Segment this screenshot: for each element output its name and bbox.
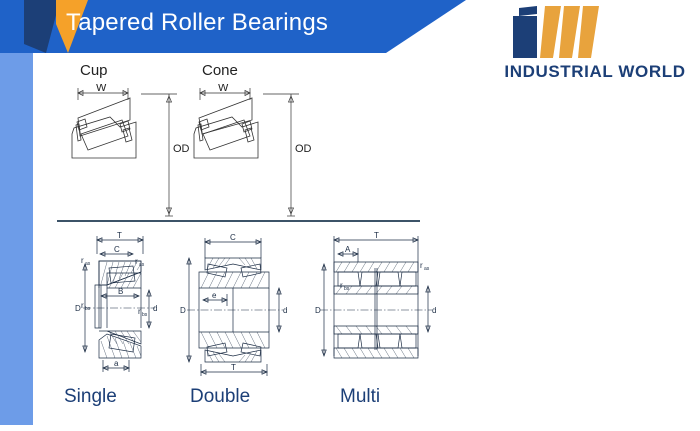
single-radius-sub-c: bs: [85, 306, 91, 312]
single-radius-sub-d: bs: [142, 312, 148, 318]
cone-od-label: OD: [295, 143, 312, 155]
multi-dim-T: T: [374, 231, 379, 240]
single-radius-label-d: r: [138, 307, 141, 316]
cone-width-label: W: [218, 84, 229, 94]
left-accent-strip: [0, 53, 33, 425]
multi-radius-label-a: r: [420, 261, 423, 270]
multi-dim-A: A: [345, 245, 351, 254]
single-dim-a: a: [114, 359, 119, 368]
multi-caption: Multi: [340, 386, 380, 408]
logo-wordmark: INDUSTRIAL WORLD: [495, 62, 695, 82]
single-bearing-diagram: T C r as r as r bs r bs: [55, 228, 175, 383]
single-dim-C: C: [114, 245, 120, 254]
logo-mark-icon: [507, 6, 617, 58]
single-caption: Single: [64, 386, 117, 408]
double-dim-d: d: [283, 306, 287, 315]
top-figure-group: Cup Cone W OD W: [50, 62, 350, 212]
single-radius-sub-b: as: [139, 262, 145, 268]
multi-radius-sub-b: bs: [344, 286, 350, 292]
single-dim-d: d: [153, 304, 157, 313]
cup-width-label: W: [96, 84, 107, 94]
multi-radius-label-b: r: [340, 281, 343, 290]
multi-dim-d: d: [432, 306, 436, 315]
cup-caption: Cup: [80, 62, 108, 79]
multi-bearing-diagram: T A r as r bs: [312, 228, 442, 383]
double-caption: Double: [190, 386, 250, 408]
brand-logo: INDUSTRIAL WORLD: [495, 6, 695, 84]
cone-od-dimension: OD: [257, 90, 317, 230]
multi-radius-sub-a: as: [424, 266, 430, 272]
double-dim-C: C: [230, 233, 236, 242]
double-dim-e: e: [212, 291, 217, 300]
double-dim-T: T: [231, 363, 236, 372]
single-radius-label-c: r: [81, 301, 84, 310]
double-bearing-diagram: C e: [175, 228, 300, 383]
single-dim-B: B: [118, 287, 123, 296]
multi-dim-D: D: [315, 306, 321, 315]
bottom-figure-group: T C r as r as r bs r bs: [50, 228, 450, 428]
single-dim-D: D: [75, 304, 81, 313]
section-divider: [57, 220, 420, 222]
double-dim-D: D: [180, 306, 186, 315]
single-radius-label-a: r: [81, 256, 84, 265]
single-dim-T: T: [117, 231, 122, 240]
page-title: Tapered Roller Bearings: [66, 9, 328, 37]
cone-caption: Cone: [202, 62, 238, 79]
